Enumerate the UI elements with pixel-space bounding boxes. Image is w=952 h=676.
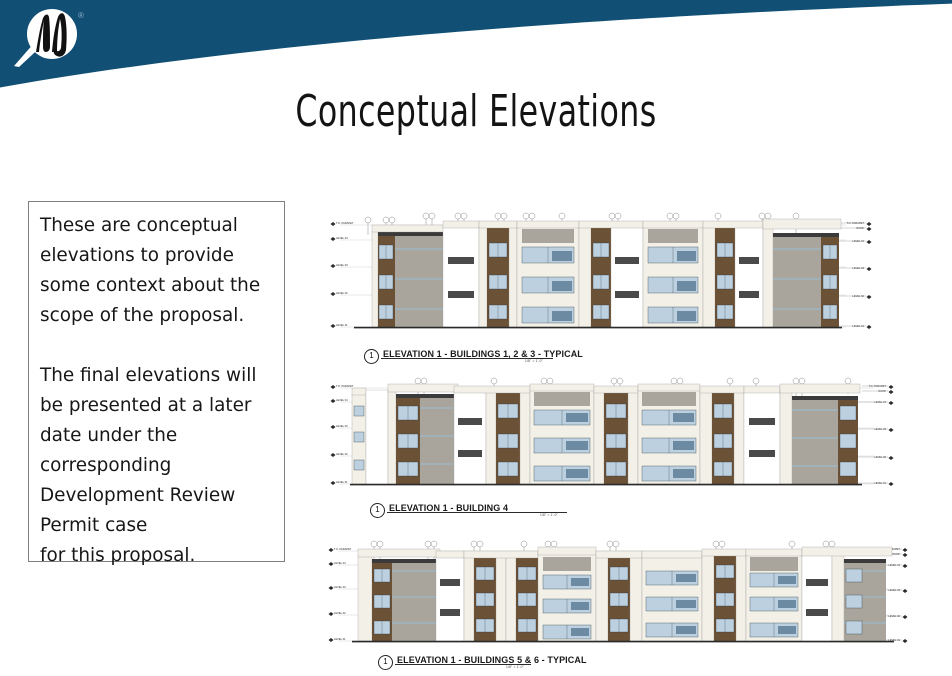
svg-text:LEVEL 01: LEVEL 01	[336, 480, 348, 484]
svg-text:LEVEL 01: LEVEL 01	[334, 637, 346, 641]
logo-circle	[27, 9, 77, 59]
svg-text:T.O. PARAPET: T.O. PARAPET	[336, 384, 354, 388]
svg-text:LEVEL 02: LEVEL 02	[334, 611, 346, 615]
elevation-2-marker: 1	[370, 503, 385, 518]
svg-text:LEVEL 04: LEVEL 04	[336, 236, 348, 240]
elevation-1-marker: 1	[364, 349, 379, 364]
callout-textbox: These are conceptual elevations to provi…	[28, 201, 285, 562]
page-title: Conceptual Elevations	[95, 86, 857, 137]
svg-text:LEVEL 04: LEVEL 04	[336, 398, 348, 402]
elev3-level-tags: T.O. PARAPETLEVEL 04 LEVEL 03LEVEL 02LEV…	[329, 547, 352, 642]
svg-text:LEVEL 04: LEVEL 04	[334, 561, 346, 565]
m-monogram-logo: ®	[12, 6, 90, 68]
elev3-callout-bubbles	[371, 541, 835, 547]
callout-paragraph-2: The final elevations will be presented a…	[40, 361, 274, 541]
svg-text:LEVEL 02: LEVEL 02	[336, 291, 348, 295]
svg-text:LEVEL 02: LEVEL 02	[336, 452, 348, 456]
svg-text:LEVEL 03: LEVEL 03	[334, 585, 346, 589]
svg-text:LEVEL 03: LEVEL 03	[336, 424, 348, 428]
svg-text:T.O. PARAPET: T.O. PARAPET	[334, 547, 352, 551]
elevation-drawing-2: T.O. PARAPETLEVEL 04 LEVEL 03LEVEL 02LEV…	[326, 372, 906, 500]
elevation-2-scale: 1/8" = 1'-0"	[540, 513, 558, 517]
svg-text:T.O. PARAPET: T.O. PARAPET	[336, 221, 354, 225]
elevation-drawing-3: T.O. PARAPETLEVEL 04 LEVEL 03LEVEL 02LEV…	[318, 535, 918, 655]
slide-canvas: ® Conceptual Elevations These are concep…	[0, 0, 952, 676]
elev1-level-tags: T.O. PARAPETLEVEL 04 LEVEL 03LEVEL 02 LE…	[331, 221, 354, 328]
elevation-3-scale: 1/8" = 1'-0"	[506, 665, 524, 669]
callout-paragraph-3: for this proposal.	[40, 541, 274, 571]
elev2-callout-bubbles	[415, 378, 851, 384]
callout-paragraph-1: These are conceptual elevations to provi…	[40, 211, 274, 331]
elev2-level-tags: T.O. PARAPETLEVEL 04 LEVEL 03LEVEL 02LEV…	[331, 384, 354, 485]
header-banner	[0, 0, 952, 95]
elevation-3-marker: 1	[378, 655, 393, 670]
elevation-drawing-1: T.O. PARAPETLEVEL 04 LEVEL 03LEVEL 02 LE…	[326, 205, 886, 345]
elevation-1-scale: 1/8" = 1'-0"	[525, 359, 543, 363]
svg-text:LEVEL 01: LEVEL 01	[336, 323, 348, 327]
logo-trademark-icon: ®	[78, 11, 84, 20]
svg-text:LEVEL 03: LEVEL 03	[336, 263, 348, 267]
